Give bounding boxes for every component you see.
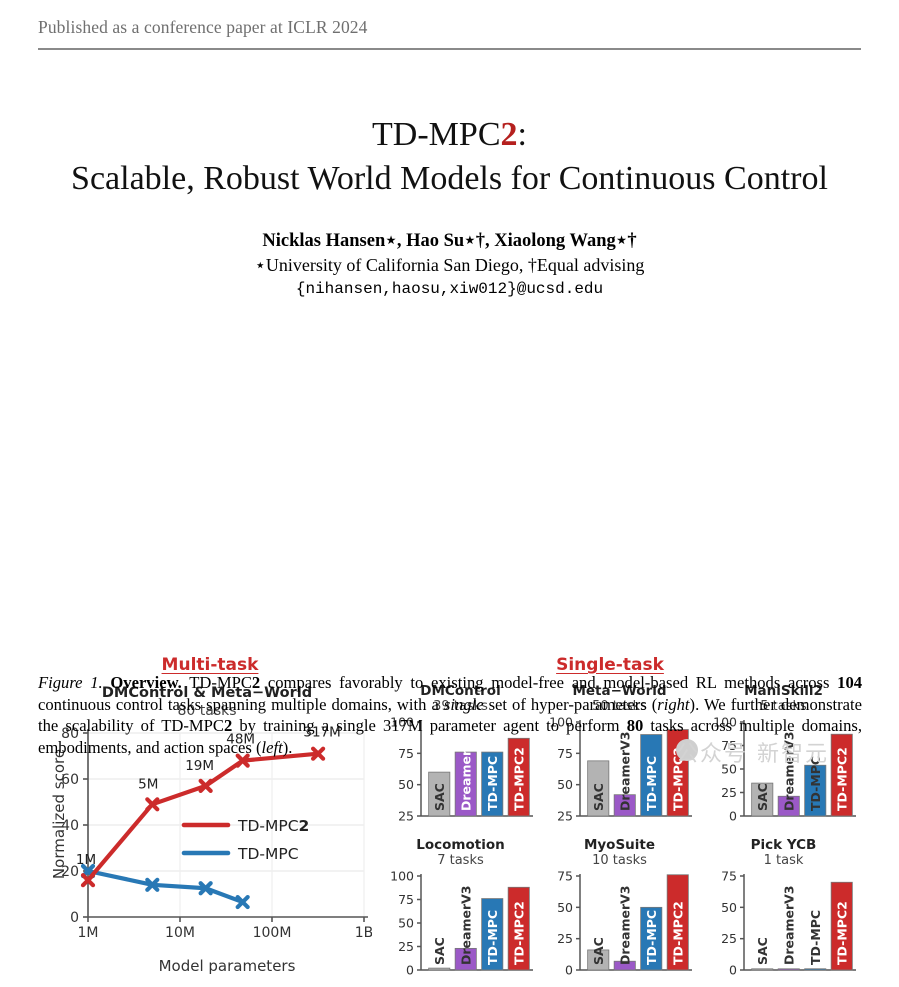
watermark-text: 公众号 新智元 (676, 736, 829, 768)
x-axis-label: Model parameters (82, 957, 372, 975)
svg-text:DreamerV3: DreamerV3 (781, 886, 796, 966)
svg-text:60: 60 (61, 772, 79, 788)
page-title: TD-MPC2: Scalable, Robust World Models f… (0, 114, 899, 200)
svg-text:0: 0 (729, 963, 737, 978)
svg-text:100: 100 (390, 870, 414, 884)
caption-sup-2a: 2 (252, 673, 260, 692)
svg-text:0: 0 (406, 963, 414, 978)
svg-text:25: 25 (398, 939, 414, 954)
svg-text:DreamerV3: DreamerV3 (617, 886, 632, 966)
author-list: Nicklas Hansen⋆, Hao Su⋆†, Xiaolong Wang… (0, 230, 899, 252)
svg-text:25: 25 (398, 809, 414, 824)
author-affiliation: ⋆University of California San Diego, †Eq… (0, 255, 899, 276)
caption-text-2: compares favorably to existing model-fre… (260, 673, 837, 692)
svg-text:TD-MPC: TD-MPC (485, 910, 500, 965)
caption-text-1: TD-MPC (182, 673, 252, 692)
svg-text:SAC: SAC (755, 937, 770, 965)
svg-text:0: 0 (70, 910, 79, 926)
svg-text:75: 75 (721, 870, 737, 884)
svg-text:25: 25 (721, 931, 737, 946)
svg-text:SAC: SAC (591, 937, 606, 965)
svg-text:1M: 1M (76, 852, 96, 868)
caption-lead: Overview. (110, 673, 181, 692)
caption-num-80: 80 (627, 716, 644, 735)
title-colon: : (518, 116, 527, 153)
chart-subtitle: 7 tasks (383, 853, 538, 868)
svg-text:TD-MPC2: TD-MPC2 (670, 901, 685, 965)
caption-em-right: right (657, 695, 689, 714)
bar-chart-svg: 0255075SACDreamerV3TD-MPCTD-MPC2 (542, 870, 697, 987)
chart-subtitle: 1 task (706, 853, 861, 868)
svg-text:50: 50 (557, 777, 573, 792)
svg-text:75: 75 (398, 892, 414, 907)
chart-myosuite: MyoSuite 10 tasks 0255075SACDreamerV3TD-… (542, 837, 697, 987)
caption-em-single: single (444, 695, 484, 714)
svg-text:SAC: SAC (432, 937, 447, 965)
bar-chart-svg: 0255075100SACDreamerV3TD-MPCTD-MPC2 (383, 870, 538, 987)
svg-text:50: 50 (557, 900, 573, 915)
caption-text-4: set of hyper-parameters ( (484, 695, 658, 714)
svg-text:TD-MPC: TD-MPC (808, 910, 823, 965)
svg-text:25: 25 (721, 785, 737, 800)
caption-text-8: ). (283, 738, 293, 757)
chart-subtitle: 10 tasks (542, 853, 697, 868)
caption-text-6: by training a single 317M parameter agen… (232, 716, 626, 735)
running-header: Published as a conference paper at ICLR … (38, 17, 861, 38)
title-main: TD-MPC (372, 116, 500, 153)
svg-text:TD-MPC: TD-MPC (485, 756, 500, 811)
title-line-2: Scalable, Robust World Models for Contin… (0, 158, 899, 200)
svg-text:25: 25 (557, 931, 573, 946)
svg-text:1M: 1M (78, 925, 99, 941)
svg-text:SAC: SAC (591, 783, 606, 811)
svg-text:50: 50 (398, 777, 414, 792)
svg-text:50: 50 (398, 916, 414, 931)
svg-text:0: 0 (565, 963, 573, 978)
svg-text:5M: 5M (138, 776, 158, 792)
caption-num-104: 104 (837, 673, 862, 692)
svg-text:SAC: SAC (755, 783, 770, 811)
svg-text:TD-MPC2: TD-MPC2 (511, 901, 526, 965)
svg-text:75: 75 (557, 870, 573, 884)
svg-text:50: 50 (721, 900, 737, 915)
title-superscript-2: 2 (501, 116, 518, 153)
svg-text:100M: 100M (253, 925, 292, 941)
bar-chart-svg: 0255075SACDreamerV3TD-MPCTD-MPC2 (706, 870, 861, 987)
svg-text:TD-MPC: TD-MPC (237, 845, 299, 863)
caption-label: Figure 1. (38, 673, 103, 692)
svg-text:TD-MPC: TD-MPC (644, 756, 659, 811)
paper-page: Published as a conference paper at ICLR … (0, 0, 899, 787)
chart-pickycb: Pick YCB 1 task 0255075SACDreamerV3TD-MP… (706, 837, 861, 987)
svg-text:SAC: SAC (432, 783, 447, 811)
chart-title: Locomotion (383, 837, 538, 853)
svg-text:TD-MPC: TD-MPC (644, 910, 659, 965)
svg-text:TD-MPC2: TD-MPC2 (237, 817, 309, 835)
title-line-1: TD-MPC2: (0, 114, 899, 156)
author-email: {nihansen,haosu,xiw012}@ucsd.edu (0, 280, 899, 298)
chart-title: Pick YCB (706, 837, 861, 853)
chart-locomotion: Locomotion 7 tasks 0255075100SACDreamerV… (383, 837, 538, 987)
svg-text:19M: 19M (185, 758, 214, 774)
svg-text:DreamerV3: DreamerV3 (458, 886, 473, 966)
svg-text:0: 0 (729, 809, 737, 824)
svg-text:40: 40 (61, 818, 79, 834)
svg-text:25: 25 (557, 809, 573, 824)
svg-text:1B: 1B (355, 925, 372, 941)
caption-text-3: continuous control tasks spanning multip… (38, 695, 444, 714)
figure-1: Multi-task Single-task DMControl & Meta−… (0, 325, 899, 670)
svg-text:10M: 10M (165, 925, 195, 941)
chart-title: MyoSuite (542, 837, 697, 853)
svg-text:TD-MPC2: TD-MPC2 (834, 901, 849, 965)
caption-em-left: left (262, 738, 283, 757)
header-divider (38, 48, 861, 50)
